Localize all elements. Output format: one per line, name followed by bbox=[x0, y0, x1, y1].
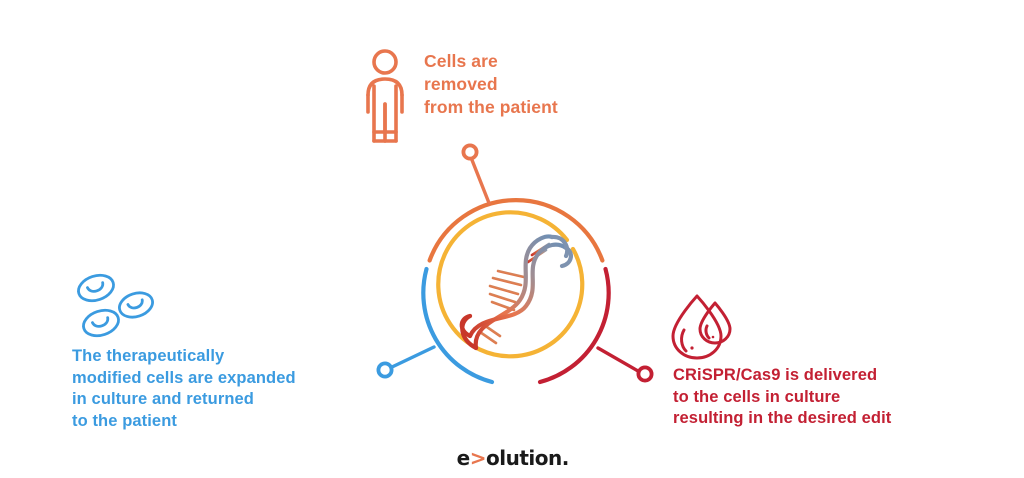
connector-top bbox=[463, 145, 489, 203]
callout-text-right: CRiSPR/Cas9 is delivered to the cells in… bbox=[673, 365, 973, 430]
dna-helix-icon bbox=[462, 236, 571, 348]
inner-ring-yellow-main bbox=[438, 212, 582, 356]
logo-text-part1: e bbox=[457, 446, 470, 470]
connector-top-line bbox=[472, 160, 489, 203]
infographic-canvas: Cells are removed from the patient The t… bbox=[0, 0, 1024, 478]
connector-right-endpoint bbox=[638, 367, 651, 380]
person-icon bbox=[368, 51, 402, 141]
logo-mark: . bbox=[562, 446, 568, 470]
connector-top-endpoint bbox=[463, 145, 476, 158]
logo-chevron-icon: > bbox=[470, 446, 486, 470]
outer-ring-red-arc bbox=[540, 269, 609, 382]
blood-cells-icon bbox=[75, 271, 156, 340]
inner-ring bbox=[438, 212, 582, 356]
connector-left bbox=[378, 347, 434, 377]
evolution-logo[interactable]: e>olution. bbox=[0, 446, 1024, 470]
callout-text-left: The therapeutically modified cells are e… bbox=[72, 346, 362, 432]
connector-right bbox=[598, 348, 652, 381]
connector-left-line bbox=[392, 347, 434, 367]
logo-text-part2: olution bbox=[486, 446, 562, 470]
callout-text-top: Cells are removed from the patient bbox=[424, 50, 634, 119]
connector-left-endpoint bbox=[378, 363, 391, 376]
blood-droplet-icon bbox=[673, 296, 730, 358]
connector-right-line bbox=[598, 348, 638, 371]
